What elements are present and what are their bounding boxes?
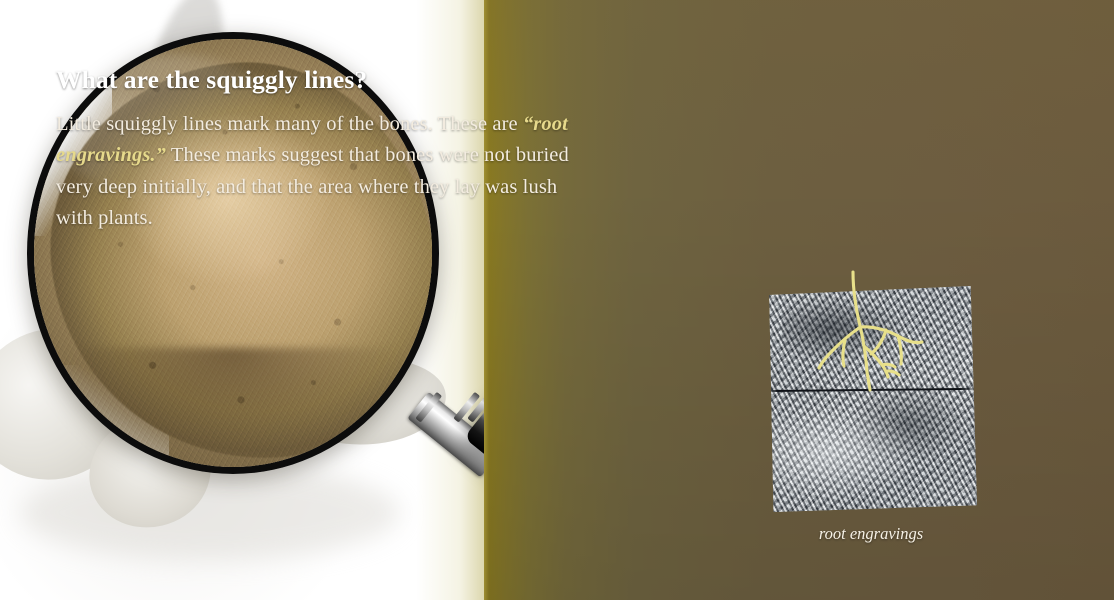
body-paragraph: Little squiggly lines mark many of the b… — [56, 109, 572, 235]
photo-highlight-region — [769, 404, 917, 503]
root-tracing-overlay — [765, 272, 977, 412]
root-engravings-figure — [765, 286, 977, 512]
figure-caption: root engravings — [765, 524, 977, 544]
bone-lower-rim-shading — [64, 348, 402, 460]
specimen-drop-shadow — [20, 465, 400, 560]
page-title: What are the squiggly lines? — [56, 65, 596, 95]
body-text-part-one: Little squiggly lines mark many of the b… — [56, 113, 523, 135]
infographic-panel: What are the squiggly lines? Little squi… — [0, 0, 1114, 600]
magnifier-lens — [27, 32, 439, 474]
magnifying-glass-icon — [27, 32, 439, 474]
magnified-bone-image — [32, 37, 434, 469]
